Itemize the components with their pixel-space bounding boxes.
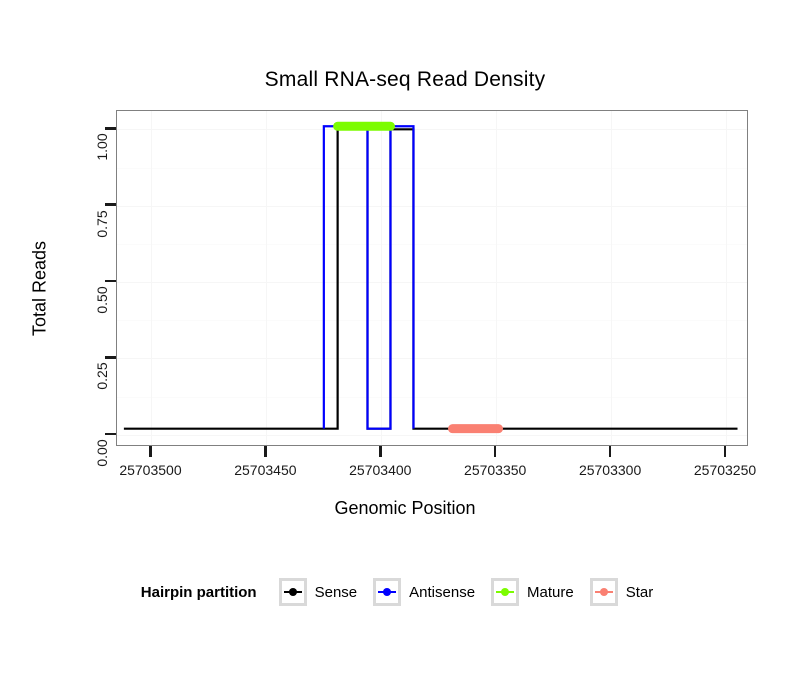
x-axis-tick [149, 446, 152, 457]
x-axis-tick-label: 25703400 [349, 462, 411, 478]
legend-key-icon [373, 578, 401, 606]
x-axis-tick-label: 25703350 [464, 462, 526, 478]
legend-items: SenseAntisenseMatureStar [279, 578, 670, 606]
x-axis-title: Genomic Position [0, 498, 810, 519]
y-axis-tick-label: 0.75 [94, 205, 110, 243]
legend-item-label: Sense [315, 584, 358, 601]
legend-key-icon [279, 578, 307, 606]
legend-title: Hairpin partition [141, 584, 257, 601]
data-series-layer [117, 111, 748, 446]
x-axis-tick [724, 446, 727, 457]
legend-item-star[interactable]: Star [590, 578, 654, 606]
x-axis-tick [264, 446, 267, 457]
legend-item-antisense[interactable]: Antisense [373, 578, 475, 606]
x-axis-tick [494, 446, 497, 457]
legend-item-label: Mature [527, 584, 574, 601]
y-axis-tick-label: 0.25 [94, 357, 110, 395]
series-sense [124, 129, 738, 428]
plot-panel [116, 110, 748, 446]
legend-item-sense[interactable]: Sense [279, 578, 358, 606]
legend-item-label: Antisense [409, 584, 475, 601]
y-axis-tick-label: 1.00 [94, 128, 110, 166]
x-axis-tick-label: 25703250 [694, 462, 756, 478]
y-axis-tick-label: 0.50 [94, 281, 110, 319]
chart-figure: Small RNA-seq Read Density Total Reads 0… [0, 0, 810, 690]
legend-item-label: Star [626, 584, 654, 601]
x-axis-tick-label: 25703500 [119, 462, 181, 478]
legend: Hairpin partition SenseAntisenseMatureSt… [0, 578, 810, 606]
x-axis-tick-label: 25703300 [579, 462, 641, 478]
y-axis-tick-label: 0.00 [94, 434, 110, 472]
x-axis-tick-label: 25703450 [234, 462, 296, 478]
legend-item-mature[interactable]: Mature [491, 578, 574, 606]
y-axis-title: Total Reads [30, 189, 51, 389]
legend-key-icon [590, 578, 618, 606]
legend-key-icon [491, 578, 519, 606]
x-axis-tick [609, 446, 612, 457]
chart-title: Small RNA-seq Read Density [0, 68, 810, 92]
x-axis-tick [379, 446, 382, 457]
